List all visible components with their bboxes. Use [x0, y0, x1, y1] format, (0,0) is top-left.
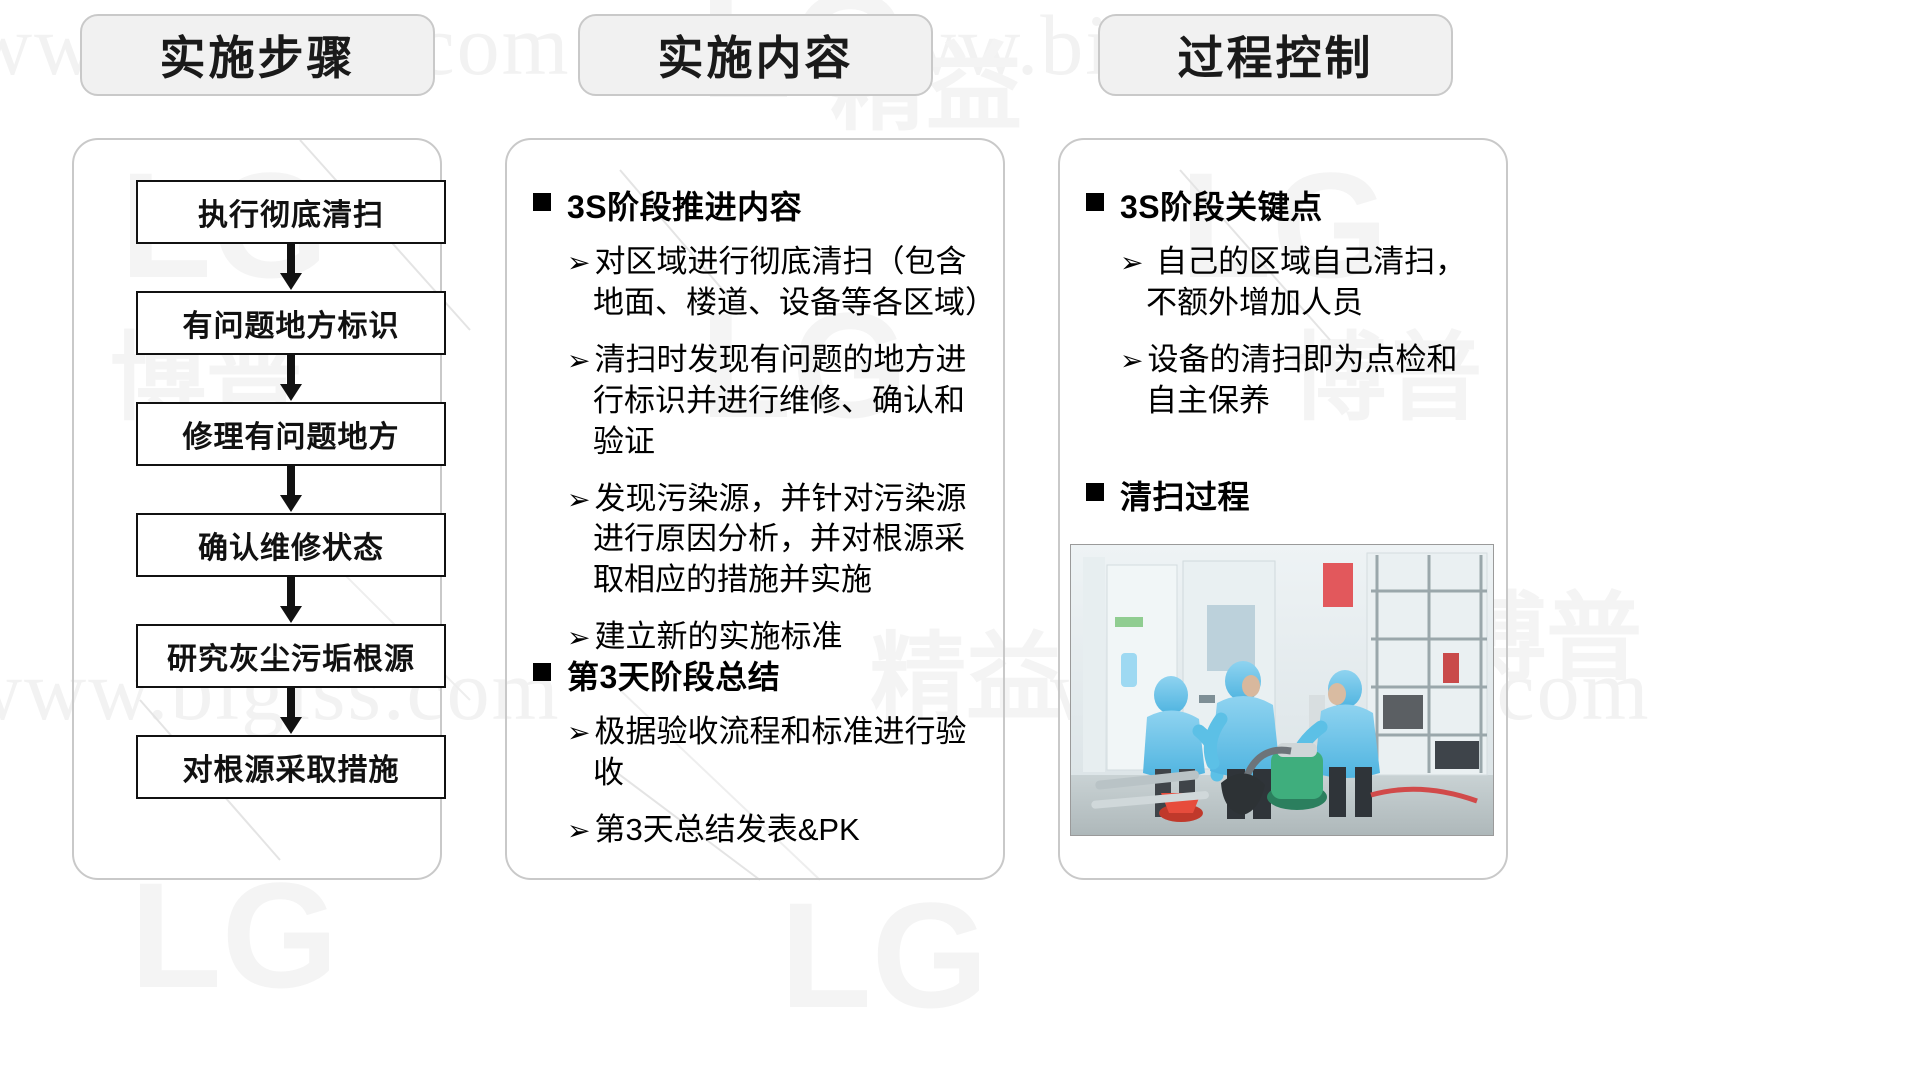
arrow-bullet-icon: ➢	[567, 345, 590, 376]
bullet-text: ➢发现污染源，并针对污染源进行原因分析，并对根源采取相应的措施并实施	[567, 479, 985, 602]
header-title: 实施内容	[658, 22, 854, 88]
flow-step-box[interactable]: 对根源采取措施	[136, 735, 446, 799]
section-heading-row: 清扫过程	[1086, 472, 1486, 518]
arrow-bullet-icon: ➢	[567, 717, 590, 748]
flow-arrow	[136, 577, 446, 624]
bullet-item: ➢对区域进行彻底清扫（包含地面、楼道、设备等各区域）	[567, 242, 985, 324]
section-heading: 3S阶段推进内容	[567, 182, 802, 228]
panel-implementation-content: 3S阶段推进内容 ➢对区域进行彻底清扫（包含地面、楼道、设备等各区域） ➢清扫时…	[505, 138, 1005, 880]
cleaning-process-photo[interactable]	[1070, 544, 1494, 836]
flow-arrow	[136, 688, 446, 735]
flow-step-box[interactable]: 有问题地方标识	[136, 291, 446, 355]
content-layer: 实施步骤 实施内容 过程控制 执行彻底清扫 有问题地方	[0, 0, 1920, 1080]
square-bullet-icon	[533, 663, 551, 681]
flow-step-label: 修理有问题地方	[183, 412, 400, 456]
square-bullet-icon	[533, 193, 551, 211]
arrow-down-icon	[278, 355, 304, 402]
flow-step-box[interactable]: 执行彻底清扫	[136, 180, 446, 244]
bullet-text: ➢极据验收流程和标准进行验收	[567, 712, 985, 794]
arrow-bullet-icon: ➢	[567, 815, 590, 846]
slide-root: www.biglss.com www.biglss.com www.biglss…	[0, 0, 1920, 1080]
flow-step-box[interactable]: 确认维修状态	[136, 513, 446, 577]
square-bullet-icon	[1086, 193, 1104, 211]
flow-arrow	[136, 244, 446, 291]
section-heading-row: 3S阶段推进内容	[533, 182, 985, 228]
control-section-3s-keypoints: 3S阶段关键点 ➢ 自己的区域自己清扫，不额外增加人员 ➢设备的清扫即为点检和自…	[1086, 182, 1486, 438]
flow-arrow	[136, 466, 446, 513]
flow-step-label: 执行彻底清扫	[198, 190, 384, 234]
arrow-bullet-icon: ➢	[567, 247, 590, 278]
arrow-down-icon	[278, 688, 304, 735]
bullet-text: ➢设备的清扫即为点检和自主保养	[1120, 340, 1486, 422]
arrow-down-icon	[278, 244, 304, 291]
flow-step-box[interactable]: 研究灰尘污垢根源	[136, 624, 446, 688]
arrow-bullet-icon: ➢	[567, 484, 590, 515]
panel-implementation-steps: 执行彻底清扫 有问题地方标识	[72, 138, 442, 880]
bullet-item: ➢清扫时发现有问题的地方进行标识并进行维修、确认和验证	[567, 340, 985, 463]
bullet-item: ➢第3天总结发表&PK	[567, 810, 985, 851]
flow-step-label: 确认维修状态	[198, 523, 384, 567]
header-pill-process-control[interactable]: 过程控制	[1098, 14, 1453, 96]
section-heading: 清扫过程	[1120, 472, 1250, 518]
bullet-item: ➢ 自己的区域自己清扫，不额外增加人员	[1120, 242, 1486, 324]
flow-step-box[interactable]: 修理有问题地方	[136, 402, 446, 466]
arrow-down-icon	[278, 466, 304, 513]
flow-step-label: 对根源采取措施	[183, 745, 400, 789]
arrow-down-icon	[278, 577, 304, 624]
flow-chart: 执行彻底清扫 有问题地方标识	[136, 180, 446, 799]
content-section-3s-push: 3S阶段推进内容 ➢对区域进行彻底清扫（包含地面、楼道、设备等各区域） ➢清扫时…	[533, 182, 985, 674]
flow-step-label: 有问题地方标识	[183, 301, 400, 345]
flow-step-label: 研究灰尘污垢根源	[167, 634, 415, 678]
square-bullet-icon	[1086, 483, 1104, 501]
arrow-bullet-icon: ➢	[1120, 247, 1143, 278]
bullet-item: ➢发现污染源，并针对污染源进行原因分析，并对根源采取相应的措施并实施	[567, 479, 985, 602]
bullet-text: ➢对区域进行彻底清扫（包含地面、楼道、设备等各区域）	[567, 242, 985, 324]
bullet-text: ➢清扫时发现有问题的地方进行标识并进行维修、确认和验证	[567, 340, 985, 463]
header-pill-implementation-content[interactable]: 实施内容	[578, 14, 933, 96]
bullet-text: ➢第3天总结发表&PK	[567, 810, 860, 851]
content-section-day3-summary: 第3天阶段总结 ➢极据验收流程和标准进行验收 ➢第3天总结发表&PK	[533, 652, 985, 867]
panel-process-control: 3S阶段关键点 ➢ 自己的区域自己清扫，不额外增加人员 ➢设备的清扫即为点检和自…	[1058, 138, 1508, 880]
section-heading: 第3天阶段总结	[567, 652, 780, 698]
photo-illustration	[1071, 545, 1493, 835]
bullet-text: ➢ 自己的区域自己清扫，不额外增加人员	[1120, 242, 1486, 324]
control-section-cleaning-process: 清扫过程	[1086, 472, 1486, 532]
bullet-item: ➢设备的清扫即为点检和自主保养	[1120, 340, 1486, 422]
arrow-bullet-icon: ➢	[567, 622, 590, 653]
bullet-item: ➢极据验收流程和标准进行验收	[567, 712, 985, 794]
header-pill-implementation-steps[interactable]: 实施步骤	[80, 14, 435, 96]
section-heading-row: 3S阶段关键点	[1086, 182, 1486, 228]
flow-arrow	[136, 355, 446, 402]
header-title: 实施步骤	[160, 22, 356, 88]
header-title: 过程控制	[1178, 22, 1374, 88]
arrow-bullet-icon: ➢	[1120, 345, 1143, 376]
section-heading: 3S阶段关键点	[1120, 182, 1323, 228]
section-heading-row: 第3天阶段总结	[533, 652, 985, 698]
